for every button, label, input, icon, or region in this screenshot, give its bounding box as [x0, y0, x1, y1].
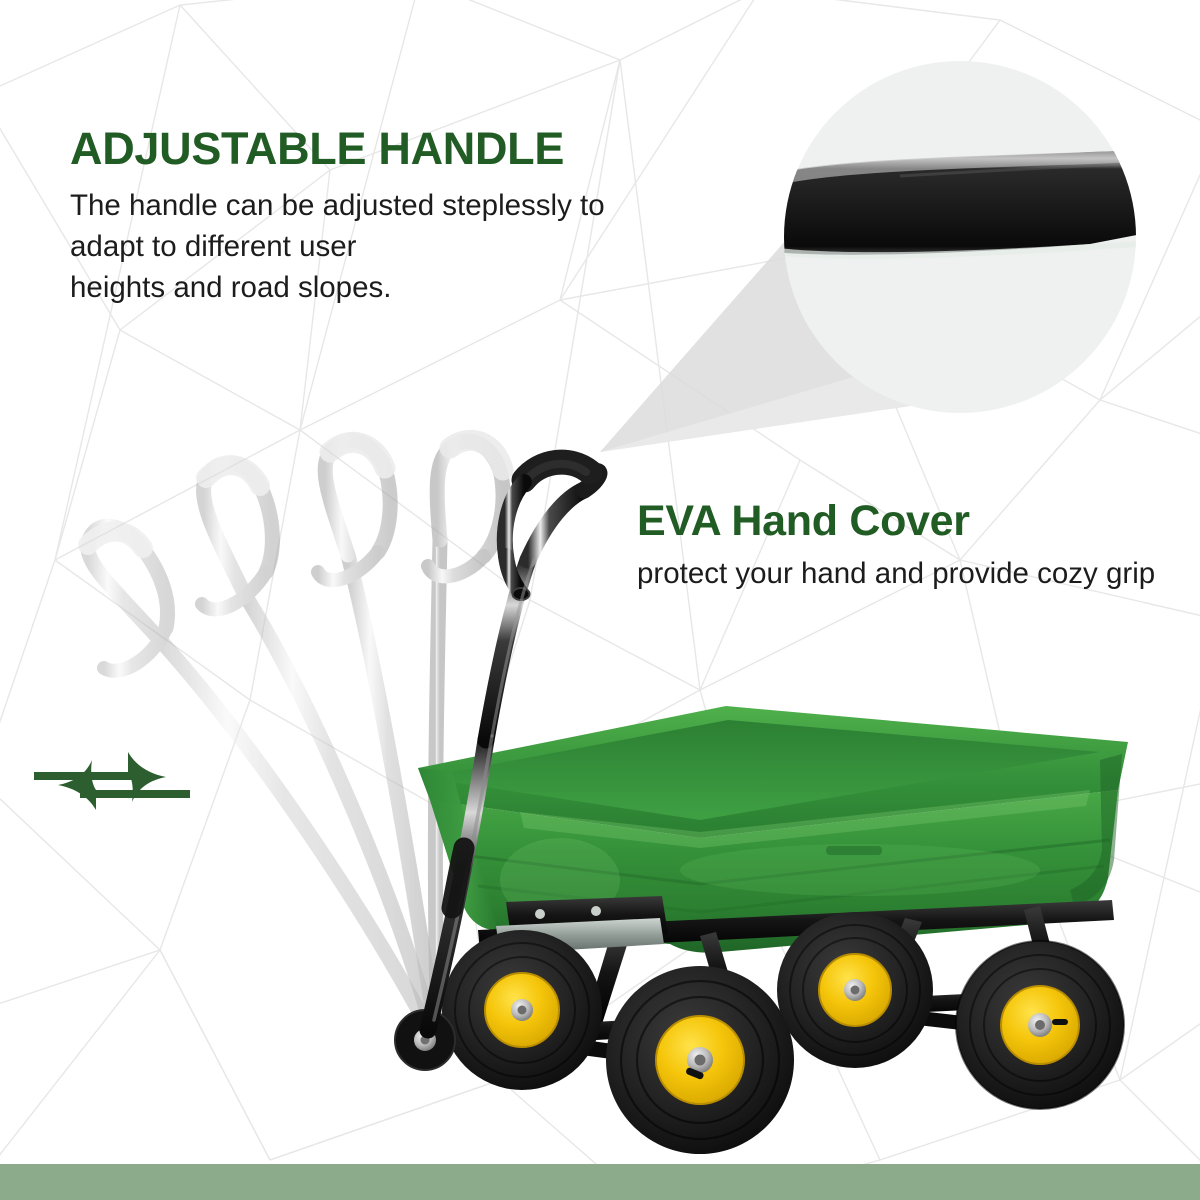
eva-hand-cover-heading: EVA Hand Cover — [637, 500, 1197, 543]
ghost-handle-2 — [202, 463, 434, 1035]
rear-left-wheel — [777, 912, 933, 1068]
eva-hand-cover-body-line-1: protect your hand and provide cozy grip — [637, 553, 1197, 594]
infographic-canvas: ADJUSTABLE HANDLE The handle can be adju… — [0, 0, 1200, 1200]
eva-hand-cover-body: protect your hand and provide cozy grip — [637, 553, 1197, 594]
adjustable-handle-body-line-2: adapt to different user — [70, 226, 650, 267]
swap-arrows-icon — [32, 744, 192, 824]
adjustable-handle-body-line-3: heights and road slopes. — [70, 267, 650, 308]
rear-right-wheel — [956, 941, 1124, 1109]
feature-block-eva-hand-cover: EVA Hand Cover protect your hand and pro… — [637, 500, 1197, 594]
front-right-wheel — [606, 966, 794, 1154]
feature-block-adjustable-handle: ADJUSTABLE HANDLE The handle can be adju… — [70, 126, 650, 308]
adjustable-handle-body-line-1: The handle can be adjusted steplessly to — [70, 185, 650, 226]
adjustable-handle-heading: ADJUSTABLE HANDLE — [70, 126, 650, 171]
front-left-wheel — [442, 930, 602, 1090]
adjustable-handle-body: The handle can be adjusted steplessly to… — [70, 185, 650, 308]
